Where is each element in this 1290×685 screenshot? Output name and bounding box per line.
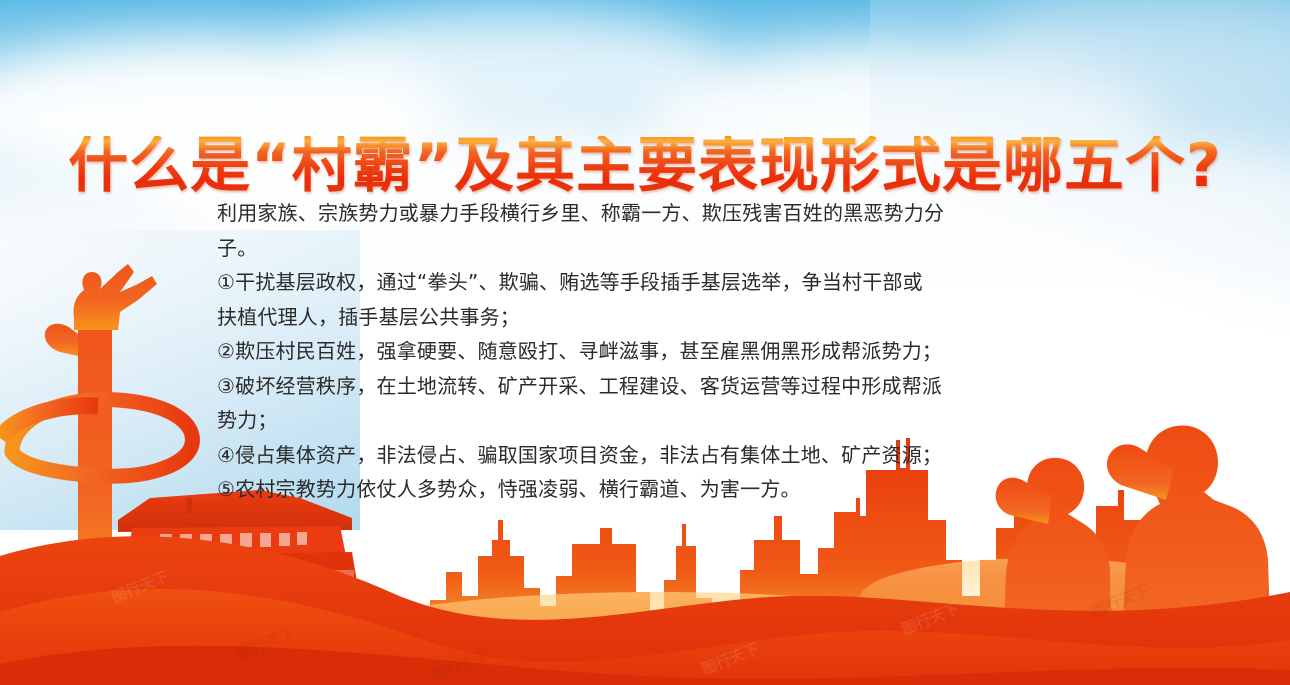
page-title: 什么是“村霸”及其主要表现形式是哪五个? xyxy=(0,136,1290,196)
copy-line: 势力； xyxy=(217,403,1099,438)
copy-line: ⑤农村宗教势力依仗人多势众，恃强凌弱、横行霸道、为害一方。 xyxy=(217,472,1099,507)
copy-line: ③破坏经营秩序，在土地流转、矿产开采、工程建设、客货运营等过程中形成帮派 xyxy=(217,369,1099,404)
copy-line: ①干扰基层政权，通过“拳头”、欺骗、贿选等手段插手基层选举，争当村干部或 xyxy=(217,265,1099,300)
body-copy: 利用家族、宗族势力或暴力手段横行乡里、称霸一方、欺压残害百姓的黑恶势力分 子。 … xyxy=(217,196,1099,507)
copy-line: 扶植代理人，插手基层公共事务； xyxy=(217,300,1099,335)
copy-line: ④侵占集体资产，非法侵占、骗取国家项目资金，非法占有集体土地、矿产资源； xyxy=(217,438,1099,473)
copy-line: ②欺压村民百姓，强拿硬要、随意殴打、寻衅滋事，甚至雇黑佣黑形成帮派势力； xyxy=(217,334,1099,369)
copy-line: 利用家族、宗族势力或暴力手段横行乡里、称霸一方、欺压残害百姓的黑恶势力分 xyxy=(217,196,1099,231)
poster-canvas: 图行天下 图行天下 图行天下 图行天下 图行天下 图行天下 什么是“村霸”及其主… xyxy=(0,0,1290,685)
copy-line: 子。 xyxy=(217,231,1099,266)
